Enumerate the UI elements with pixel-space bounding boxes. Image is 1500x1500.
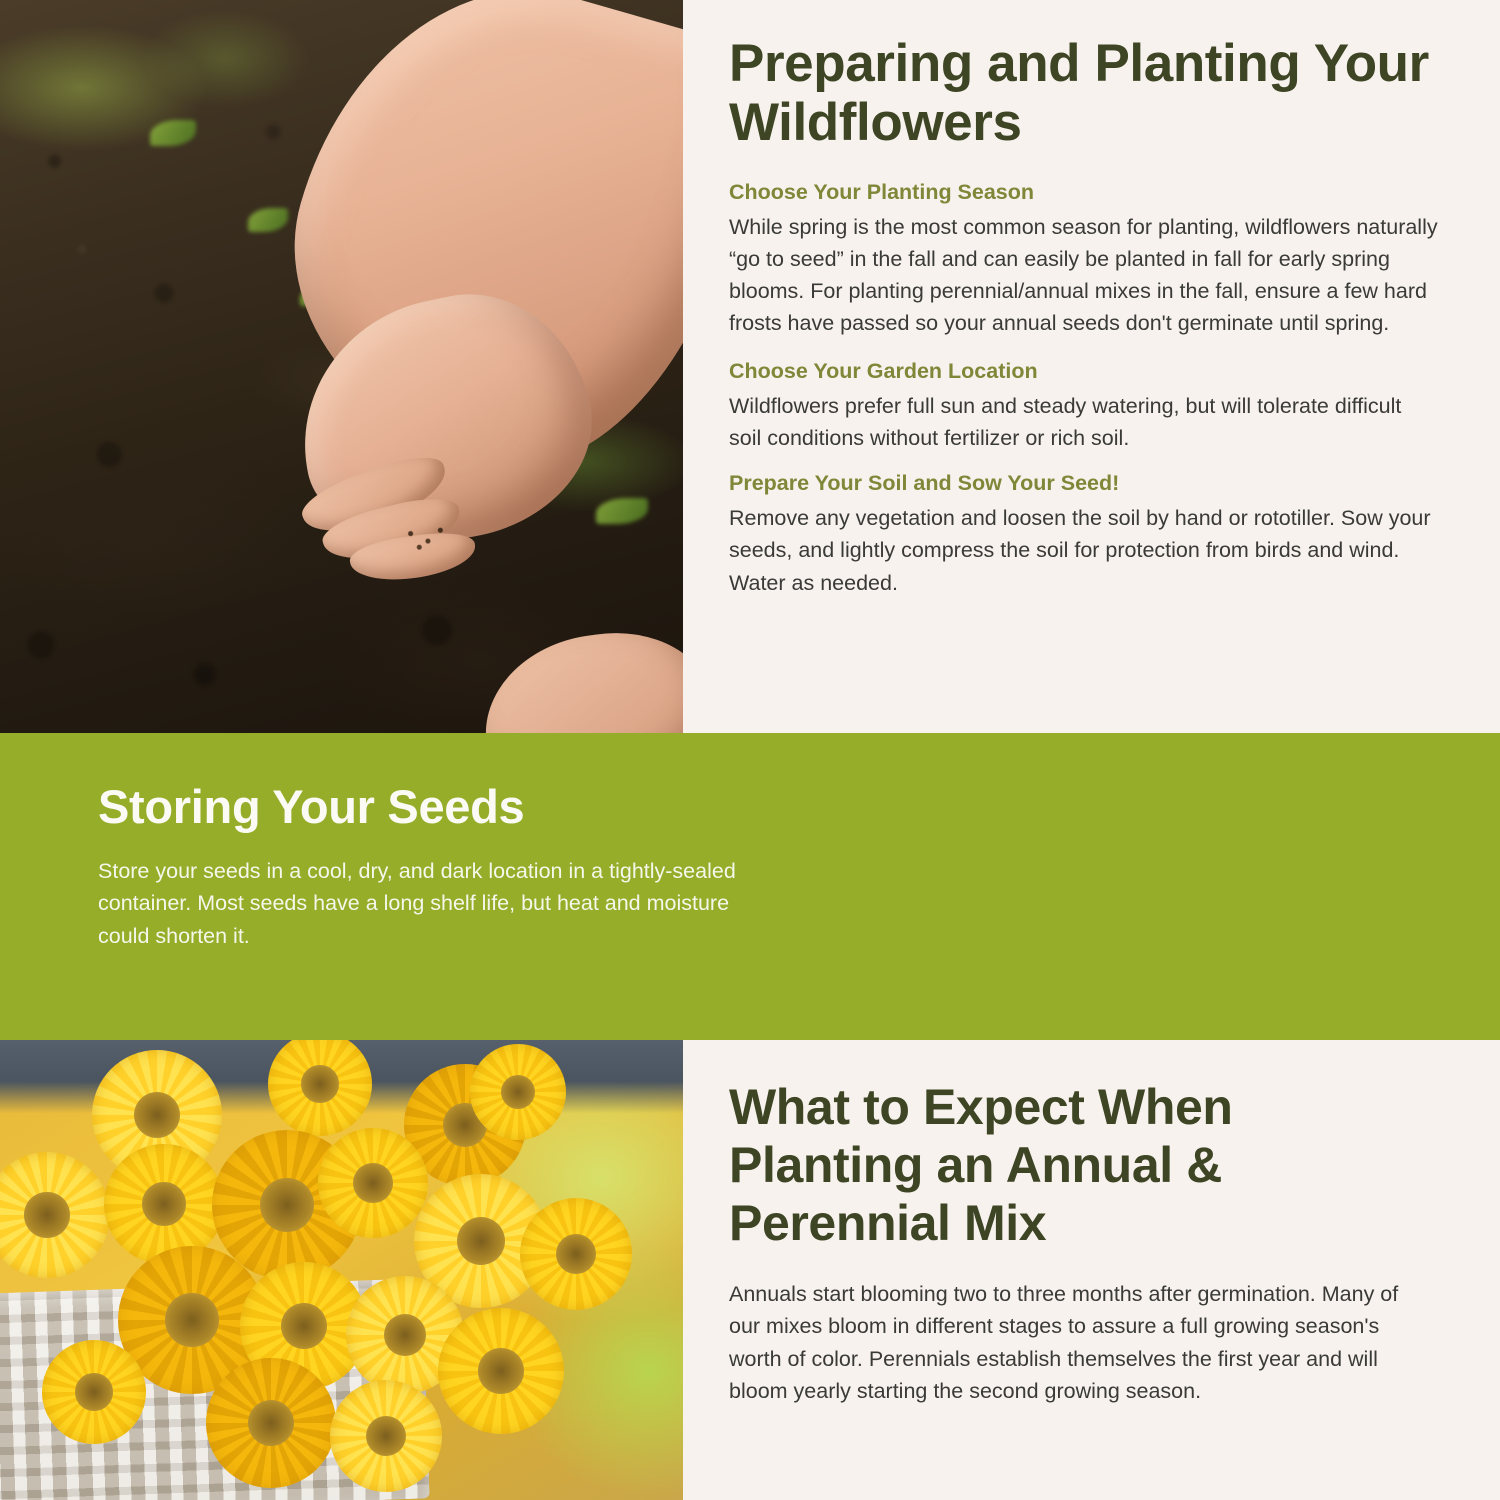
expect-title: What to Expect When Planting an Annual &… — [729, 1078, 1430, 1252]
subhead-garden-location: Choose Your Garden Location — [729, 358, 1438, 386]
zinnia-flower — [520, 1198, 632, 1310]
zinnia-basket-photo — [0, 1040, 683, 1500]
storing-body: Store your seeds in a cool, dry, and dar… — [98, 855, 748, 953]
zinnia-flower — [42, 1340, 146, 1444]
zinnia-flower — [330, 1380, 442, 1492]
storing-title: Storing Your Seeds — [98, 781, 748, 833]
subhead-prepare-soil: Prepare Your Soil and Sow Your Seed! — [729, 470, 1438, 498]
zinnia-flower — [206, 1358, 336, 1488]
zinnia-flower — [438, 1308, 564, 1434]
preparing-section: Preparing and Planting Your Wildflowers … — [683, 0, 1500, 733]
body-prepare-soil: Remove any vegetation and loosen the soi… — [729, 502, 1438, 599]
storing-seeds-section: Storing Your Seeds Store your seeds in a… — [0, 733, 1500, 1040]
body-garden-location: Wildflowers prefer full sun and steady w… — [729, 390, 1438, 455]
falling-seeds — [392, 520, 454, 554]
soil-sowing-photo — [0, 0, 683, 733]
subhead-planting-season: Choose Your Planting Season — [729, 179, 1438, 207]
page-title: Preparing and Planting Your Wildflowers — [729, 34, 1438, 153]
zinnia-flower — [318, 1128, 428, 1238]
zinnia-flower — [470, 1044, 566, 1140]
zinnia-flower — [104, 1144, 224, 1264]
infographic-page: Preparing and Planting Your Wildflowers … — [0, 0, 1500, 1500]
what-to-expect-section: What to Expect When Planting an Annual &… — [683, 1040, 1500, 1500]
expect-body: Annuals start blooming two to three mont… — [729, 1278, 1430, 1407]
storing-text-block: Storing Your Seeds Store your seeds in a… — [98, 781, 748, 953]
body-planting-season: While spring is the most common season f… — [729, 211, 1438, 340]
